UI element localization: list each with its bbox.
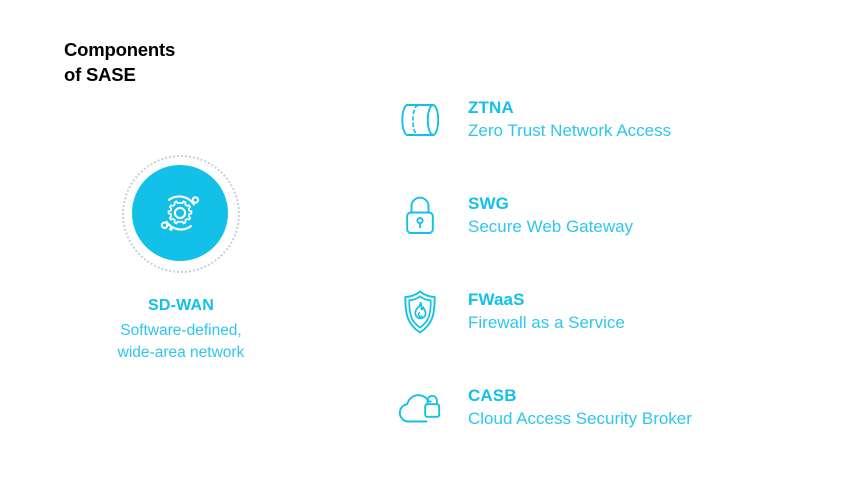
sd-wan-block: SD-WAN Software-defined, wide-area netwo… [60,155,302,364]
component-abbr: SWG [468,193,633,214]
component-text: SWG Secure Web Gateway [468,193,633,238]
component-abbr: FWaaS [468,289,625,310]
shield-flame-icon [392,285,448,339]
component-row: ZTNA Zero Trust Network Access [392,92,852,148]
component-row: FWaaS Firewall as a Service [392,284,852,340]
component-full-name: Secure Web Gateway [468,216,633,239]
component-row: CASB Cloud Access Security Broker [392,380,852,436]
sd-wan-circle [132,165,228,261]
component-full-name: Cloud Access Security Broker [468,408,692,431]
padlock-icon [392,189,448,243]
component-full-name: Firewall as a Service [468,312,625,335]
component-text: ZTNA Zero Trust Network Access [468,97,671,142]
tunnel-icon [392,93,448,147]
component-abbr: CASB [468,385,692,406]
sd-wan-label: SD-WAN [60,297,302,315]
components-list: ZTNA Zero Trust Network Access SWG Secur… [392,92,852,436]
component-row: SWG Secure Web Gateway [392,188,852,244]
sd-wan-description: Software-defined, wide-area network [60,320,302,364]
sd-wan-badge [122,155,240,273]
component-abbr: ZTNA [468,97,671,118]
cloud-lock-icon [392,381,448,435]
component-full-name: Zero Trust Network Access [468,120,671,143]
gear-network-icon [151,184,209,242]
component-text: CASB Cloud Access Security Broker [468,385,692,430]
page-title: Components of SASE [64,38,175,88]
component-text: FWaaS Firewall as a Service [468,289,625,334]
